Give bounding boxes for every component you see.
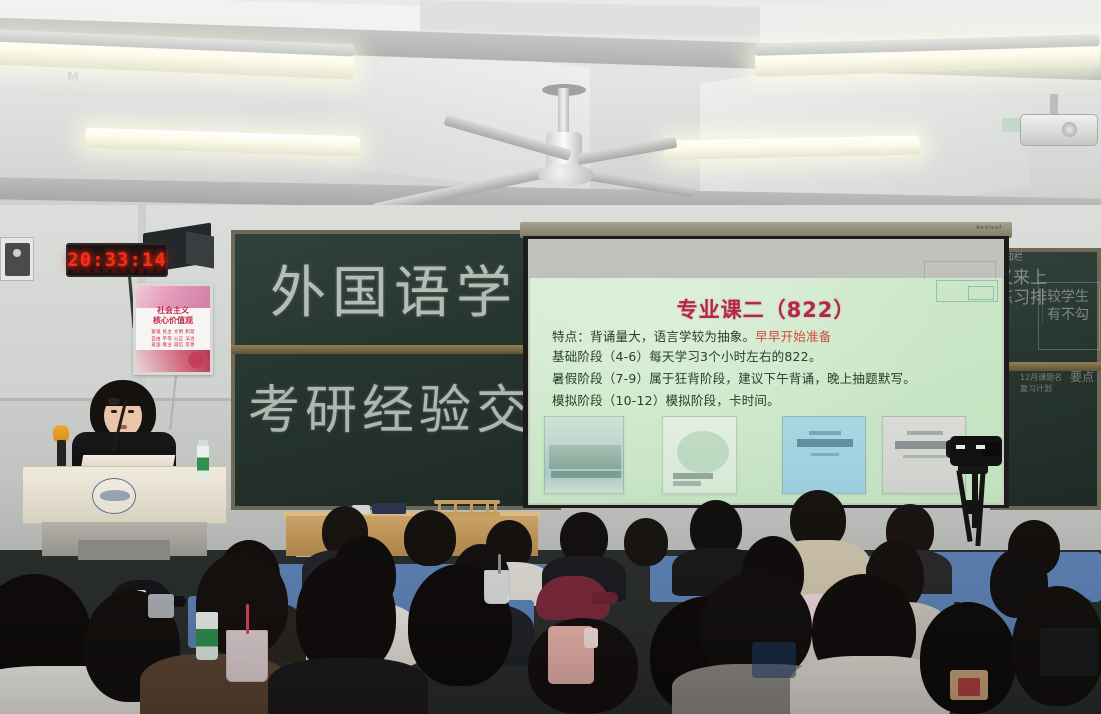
blackboard-note: 12月课题名 复习计划: [1020, 372, 1062, 394]
fan-blade: [577, 137, 677, 165]
slide-bullet-4: 模拟阶段（10-12）模拟阶段，卡时间。: [552, 390, 780, 409]
slide-bullet-1-text: 特点：背诵量大，语言学较为抽象。: [552, 329, 755, 344]
projection-screen: 专业课二（822） 特点：背诵量大，语言学较为抽象。早早开始准备 基础阶段（4-…: [528, 239, 1004, 505]
led-wall-clock: 20:33:14: [66, 243, 168, 277]
audience-torso-foreground: [268, 658, 428, 714]
speaker-cone-icon: [13, 249, 21, 257]
video-camera: [950, 432, 1006, 472]
poster-title-line2: 核心价值观: [136, 316, 210, 326]
poster-footer-graphic: [136, 350, 210, 372]
slide-bullet-1-highlight: 早早开始准备: [755, 329, 831, 344]
projection-screen-frame: 专业课二（822） 特点：背诵量大，语言学较为抽象。早早开始准备 基础阶段（4-…: [523, 236, 1009, 508]
red-item: [958, 678, 980, 696]
backpack: [752, 642, 796, 678]
microphone-head: [108, 398, 120, 405]
drink-cup: [484, 570, 510, 604]
blackboard-note-line: 有不勾: [1047, 306, 1089, 324]
slide-bullet-3: 暑假阶段（7-9）属于狂背阶段，建议下午背诵，晚上抽题默写。: [552, 368, 916, 387]
cap-brim: [592, 592, 618, 604]
blackboard-text-top: 外国语学: [270, 248, 518, 329]
ceiling-fan: [430, 88, 680, 193]
wall-mounted-monitor-side: [186, 232, 214, 269]
core-values-poster: 社会主义 核心价值观 富强 民主 文明 和谐 自由 平等 公正 法治 爱国 敬业…: [133, 283, 213, 375]
poster-title: 社会主义 核心价值观: [136, 306, 210, 326]
clock-indicator-strip: [76, 268, 162, 273]
audience-area: [0, 478, 1101, 714]
audience-head: [624, 518, 668, 566]
laptop: [1040, 628, 1098, 676]
projector-lens-icon: [1062, 122, 1077, 137]
presentation-slide: 专业课二（822） 特点：背诵量大，语言学较为抽象。早早开始准备 基础阶段（4-…: [530, 278, 1002, 503]
classroom-photo: 20:33:14 社会主义 核心价值观 富强 民主 文明 和谐 自由 平等 公正…: [0, 0, 1101, 714]
blackboard-note: 较学生 有不勾: [1042, 288, 1089, 324]
ceiling-panel: [420, 0, 780, 38]
ceiling-projector: [1020, 110, 1100, 158]
blackboard-note-line: 复习计划: [1020, 383, 1062, 394]
drink-straw: [498, 554, 501, 574]
water-bottle: [196, 612, 218, 660]
screen-brand-label: Redleaf: [976, 225, 1002, 231]
slide-bullet-2: 基础阶段（4-6）每天学习3个小时左右的822。: [552, 346, 822, 365]
slide-title: 专业课二（822）: [530, 294, 1002, 324]
fan-blade: [577, 168, 695, 197]
screen-blank-band: [528, 239, 1004, 279]
poster-title-line1: 社会主义: [136, 306, 210, 316]
poster-header-graphic: [136, 286, 210, 308]
drink-straw: [246, 604, 249, 634]
chalk-ledge: [231, 345, 561, 354]
blackboard-note-line: 12月课题名: [1020, 372, 1062, 383]
jacket-logo: M: [66, 70, 80, 84]
slide-bullet-1: 特点：背诵量大，语言学较为抽象。早早开始准备: [552, 326, 831, 345]
presenter-eye: [128, 410, 134, 413]
wall-speaker-box: [0, 237, 34, 281]
blackboard-note: 要点: [1070, 370, 1094, 385]
audience-head: [404, 510, 456, 566]
bag-strap: [584, 628, 598, 648]
poster-values: 富强 民主 文明 和谐 自由 平等 公正 法治 爱国 敬业 诚信 友善: [136, 330, 210, 350]
presenter-eye: [111, 410, 117, 413]
water-bottle: [197, 444, 209, 478]
blackboard-note-line: 较学生: [1047, 288, 1089, 306]
desk-item: [148, 594, 174, 618]
blackboard-text-bottom: 考研经验交: [248, 368, 533, 443]
bottle-cap: [198, 440, 208, 446]
poster-values-line3: 爱国 敬业 诚信 友善: [136, 343, 210, 350]
drink-cup: [226, 630, 268, 682]
